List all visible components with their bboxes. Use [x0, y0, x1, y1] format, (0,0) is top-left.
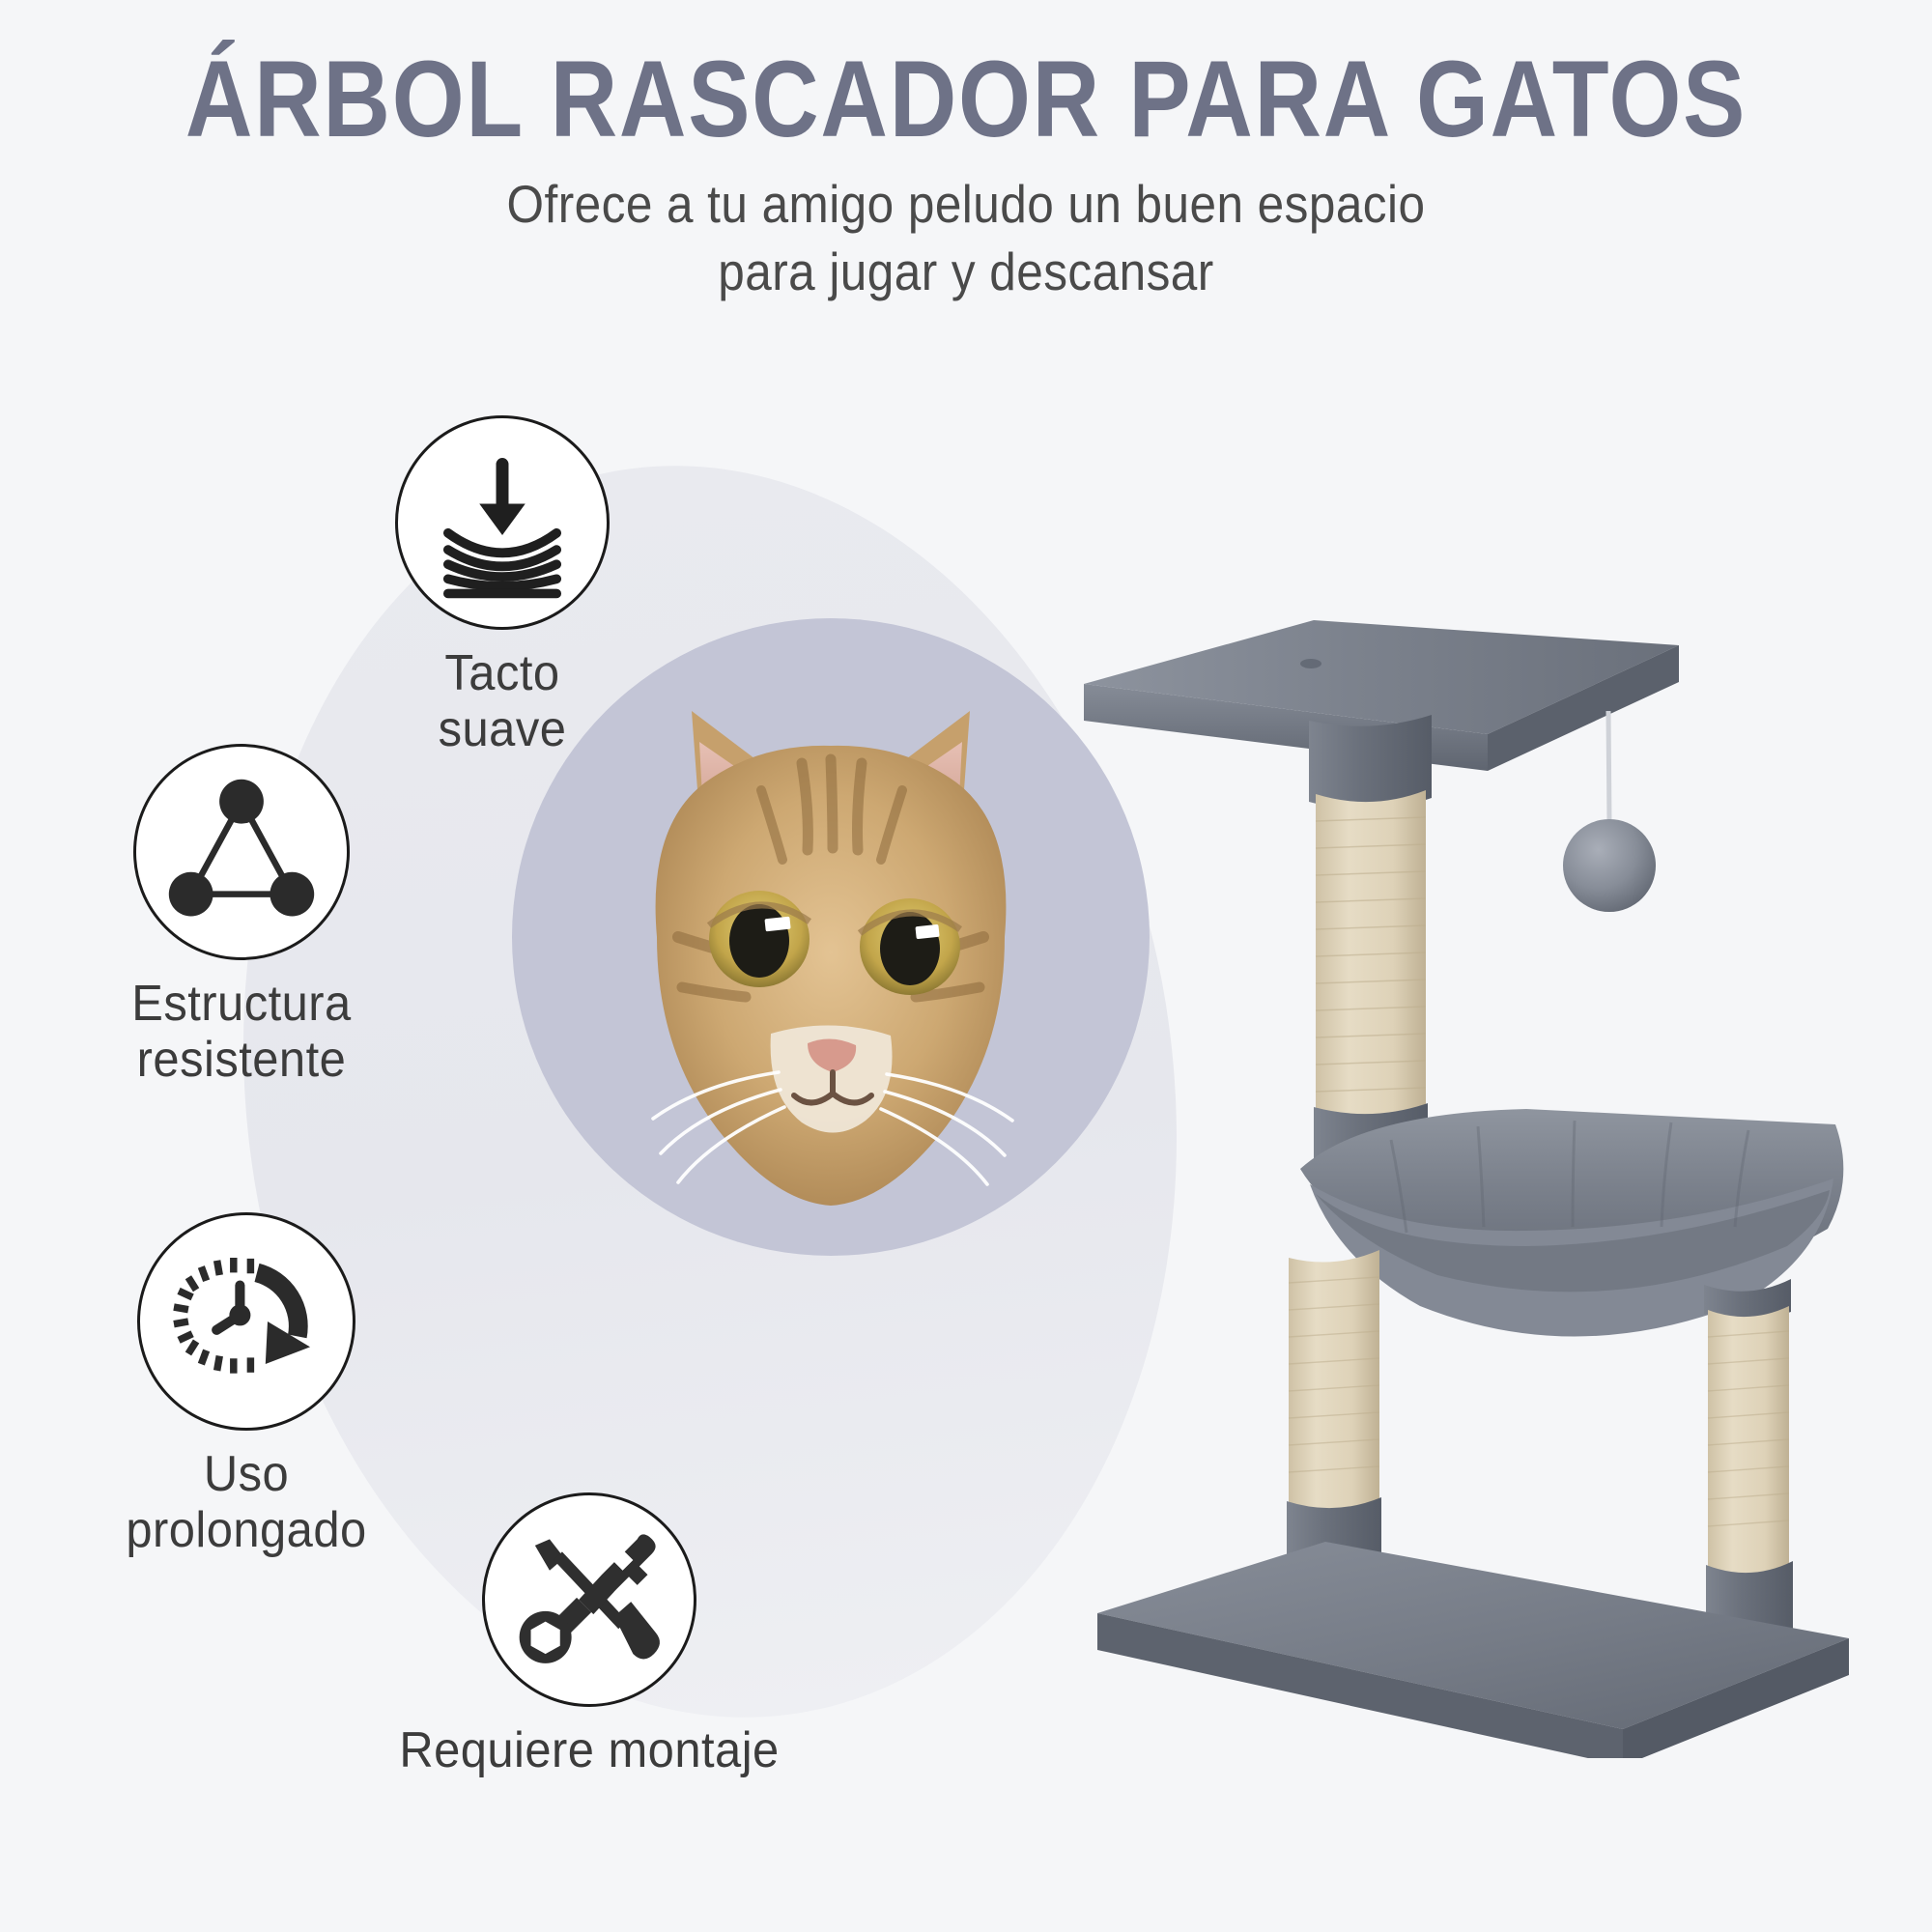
subtitle-line-2: para jugar y descansar	[314, 238, 1618, 305]
feature-assembly-required: Requiere montaje	[290, 1492, 889, 1778]
page-title: ÁRBOL RASCADOR PARA GATOS	[135, 0, 1797, 156]
feature-long-use-badge	[137, 1212, 355, 1431]
page-subtitle: Ofrece a tu amigo peludo un buen espacio…	[314, 170, 1618, 306]
feature-sturdy-structure: Estructura resistente	[19, 744, 464, 1088]
cushion-press-arrow-icon	[398, 418, 607, 627]
header: ÁRBOL RASCADOR PARA GATOS Ofrece a tu am…	[0, 0, 1932, 305]
cat-scratching-tree	[1072, 541, 1874, 1758]
wrench-screwdriver-icon	[485, 1495, 694, 1704]
feature-sturdy-structure-badge	[133, 744, 350, 960]
feature-assembly-required-label: Requiere montaje	[308, 1722, 871, 1778]
feature-sturdy-structure-label: Estructura resistente	[33, 976, 450, 1088]
tabby-cat-portrait	[512, 618, 1150, 1256]
feature-soft-touch-badge	[395, 415, 610, 630]
feature-assembly-required-badge	[482, 1492, 696, 1707]
hanging-pompom-toy	[1563, 711, 1656, 912]
infographic-page: ÁRBOL RASCADOR PARA GATOS Ofrece a tu am…	[0, 0, 1932, 1932]
cat-photo-circle	[512, 618, 1150, 1256]
clock-arrow-icon	[140, 1215, 353, 1428]
subtitle-line-1: Ofrece a tu amigo peludo un buen espacio	[314, 170, 1618, 238]
triangle-nodes-icon	[136, 747, 347, 957]
